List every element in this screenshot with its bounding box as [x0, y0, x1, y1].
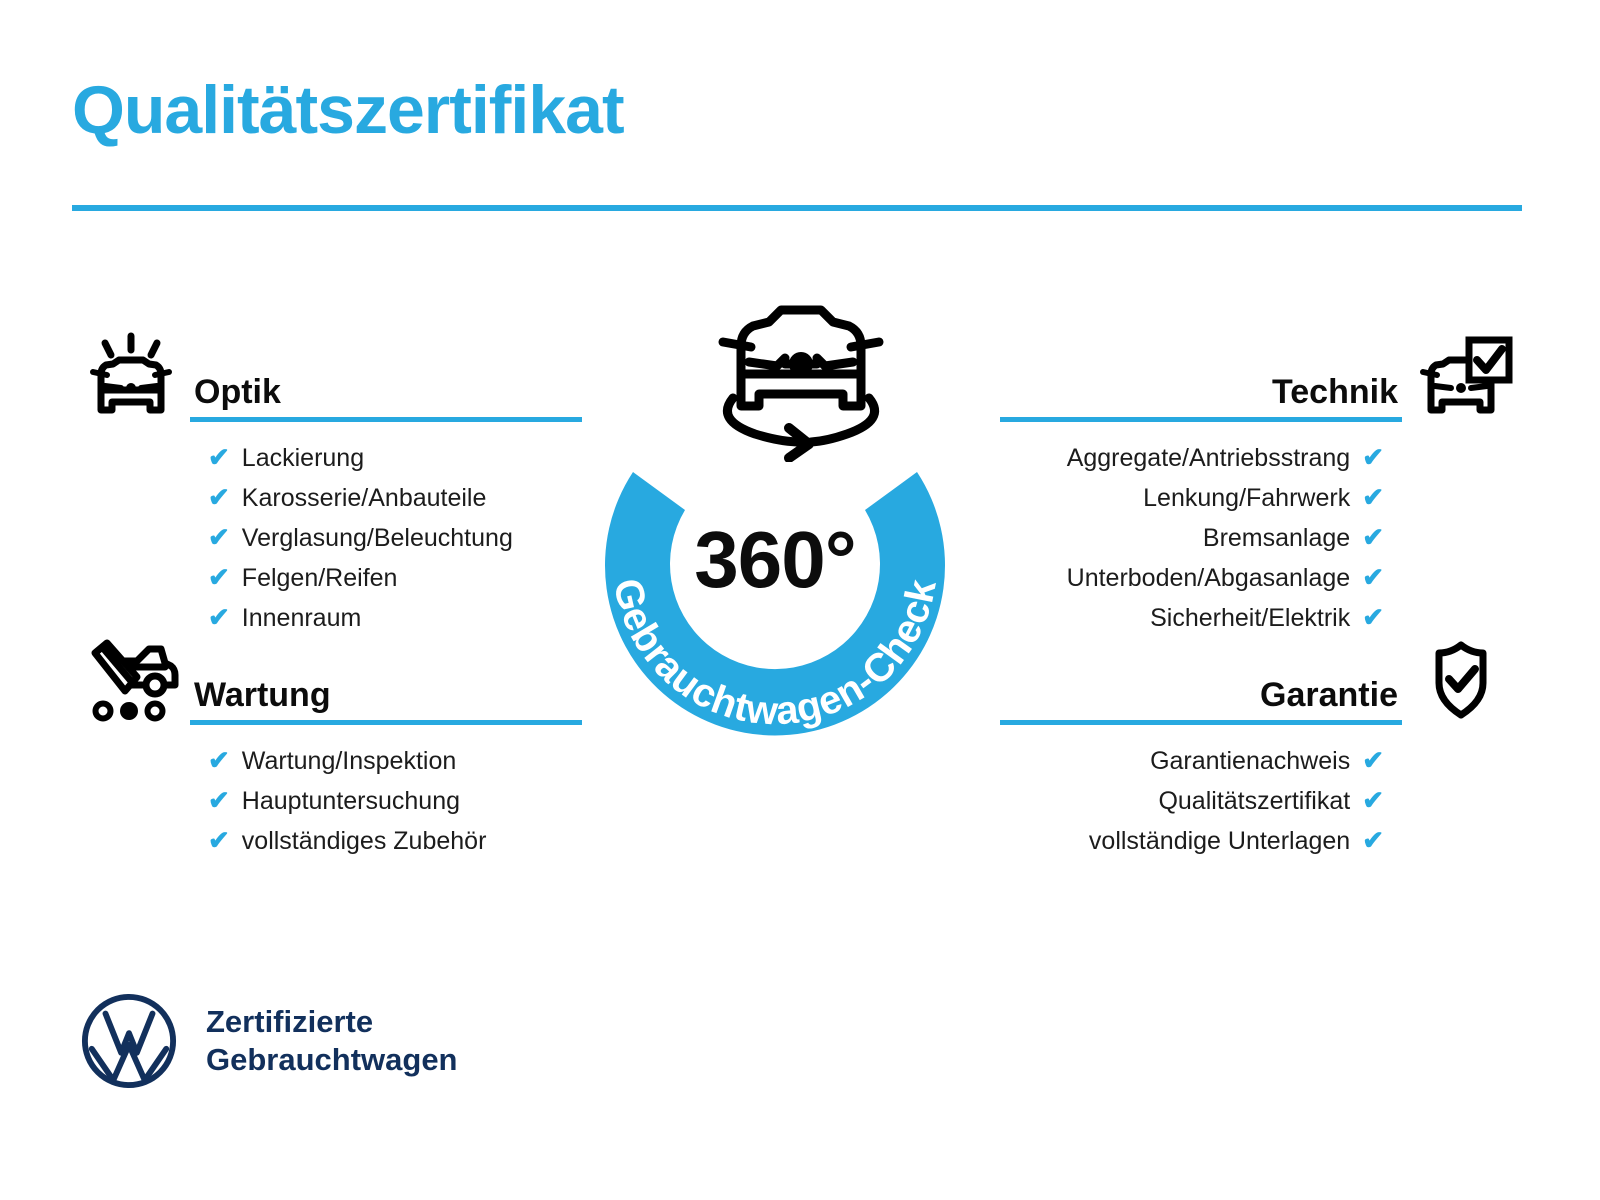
check-icon: ✔: [208, 827, 230, 853]
list-item-label: Garantienachweis: [1150, 749, 1350, 774]
list-item-label: Hauptuntersuchung: [242, 789, 460, 814]
car-service-pencil-icon: [72, 633, 190, 725]
list-item: ✔Unterboden/Abgasanlage: [1000, 564, 1520, 604]
list-item: ✔Wartung/Inspektion: [72, 747, 582, 787]
quality-certificate-page: Qualitätszertifikat: [0, 0, 1600, 1200]
list-item-label: vollständige Unterlagen: [1089, 829, 1350, 854]
list-item: ✔Lenkung/Fahrwerk: [1000, 484, 1520, 524]
360-check-badge: Gebrauchtwagen-Check: [565, 302, 1035, 772]
car-shine-icon: [72, 330, 190, 422]
list-item-label: Qualitätszertifikat: [1158, 789, 1350, 814]
volkswagen-logo: [80, 992, 178, 1090]
list-item-label: Verglasung/Beleuchtung: [242, 526, 513, 551]
section-title-technik: Technik: [1000, 375, 1402, 417]
checklist-technik: ✔Aggregate/Antriebsstrang ✔Lenkung/Fahrw…: [1000, 422, 1520, 644]
check-icon: ✔: [208, 524, 230, 550]
list-item-label: Lackierung: [242, 446, 364, 471]
list-item: ✔Aggregate/Antriebsstrang: [1000, 444, 1520, 484]
list-item: ✔Felgen/Reifen: [72, 564, 582, 604]
footer-line-2: Gebrauchtwagen: [206, 1041, 458, 1079]
list-item: ✔Verglasung/Beleuchtung: [72, 524, 582, 564]
list-item: ✔Qualitätszertifikat: [1000, 787, 1520, 827]
list-item: ✔vollständiges Zubehör: [72, 827, 582, 867]
check-icon: ✔: [1362, 564, 1384, 590]
check-icon: ✔: [1362, 747, 1384, 773]
check-icon: ✔: [208, 747, 230, 773]
section-technik: Technik: [1000, 330, 1520, 644]
list-item-label: Sicherheit/Elektrik: [1150, 606, 1350, 631]
section-underline: [190, 417, 582, 422]
list-item-label: Karosserie/Anbauteile: [242, 486, 487, 511]
check-icon: ✔: [208, 444, 230, 470]
list-item: ✔Garantienachweis: [1000, 747, 1520, 787]
checklist-garantie: ✔Garantienachweis ✔Qualitätszertifikat ✔…: [1000, 725, 1520, 867]
list-item-label: Aggregate/Antriebsstrang: [1067, 446, 1351, 471]
shield-check-icon: [1402, 633, 1520, 725]
check-icon: ✔: [208, 604, 230, 630]
list-item-label: vollständiges Zubehör: [242, 829, 487, 854]
check-icon: ✔: [1362, 524, 1384, 550]
list-item: ✔Karosserie/Anbauteile: [72, 484, 582, 524]
car-front-rotate-icon: [693, 302, 908, 462]
check-icon: ✔: [1362, 604, 1384, 630]
section-underline: [190, 720, 582, 725]
section-wartung: Wartung ✔Wartung/Inspektion ✔Hauptunters…: [72, 633, 582, 867]
section-title-garantie: Garantie: [1000, 678, 1402, 720]
check-icon: ✔: [208, 787, 230, 813]
list-item: ✔Lackierung: [72, 444, 582, 484]
section-title-optik: Optik: [190, 375, 582, 417]
check-icon: ✔: [1362, 827, 1384, 853]
check-icon: ✔: [1362, 787, 1384, 813]
list-item-label: Felgen/Reifen: [242, 566, 398, 591]
section-underline: [1000, 417, 1402, 422]
check-icon: ✔: [1362, 484, 1384, 510]
footer-line-1: Zertifizierte: [206, 1003, 458, 1041]
list-item: ✔Hauptuntersuchung: [72, 787, 582, 827]
check-icon: ✔: [1362, 444, 1384, 470]
checklist-wartung: ✔Wartung/Inspektion ✔Hauptuntersuchung ✔…: [72, 725, 582, 867]
car-checkbox-icon: [1402, 330, 1520, 422]
list-item: ✔vollständige Unterlagen: [1000, 827, 1520, 867]
footer-brand-lockup: Zertifizierte Gebrauchtwagen: [80, 992, 458, 1090]
list-item: ✔Bremsanlage: [1000, 524, 1520, 564]
footer-text: Zertifizierte Gebrauchtwagen: [206, 1003, 458, 1080]
section-garantie: Garantie ✔Garantienachweis ✔Qualitätszer…: [1000, 633, 1520, 867]
section-underline: [1000, 720, 1402, 725]
checklist-optik: ✔Lackierung ✔Karosserie/Anbauteile ✔Verg…: [72, 422, 582, 644]
page-title: Qualitätszertifikat: [72, 76, 624, 144]
list-item-label: Wartung/Inspektion: [242, 749, 456, 774]
list-item-label: Innenraum: [242, 606, 362, 631]
list-item-label: Unterboden/Abgasanlage: [1067, 566, 1351, 591]
check-icon: ✔: [208, 564, 230, 590]
header-divider: [72, 205, 1522, 211]
section-title-wartung: Wartung: [190, 678, 582, 720]
list-item-label: Bremsanlage: [1203, 526, 1350, 551]
list-item-label: Lenkung/Fahrwerk: [1143, 486, 1350, 511]
section-optik: Optik ✔Lackierung ✔Karosserie/Anbauteile…: [72, 330, 582, 644]
check-icon: ✔: [208, 484, 230, 510]
badge-number: 360°: [565, 520, 985, 600]
